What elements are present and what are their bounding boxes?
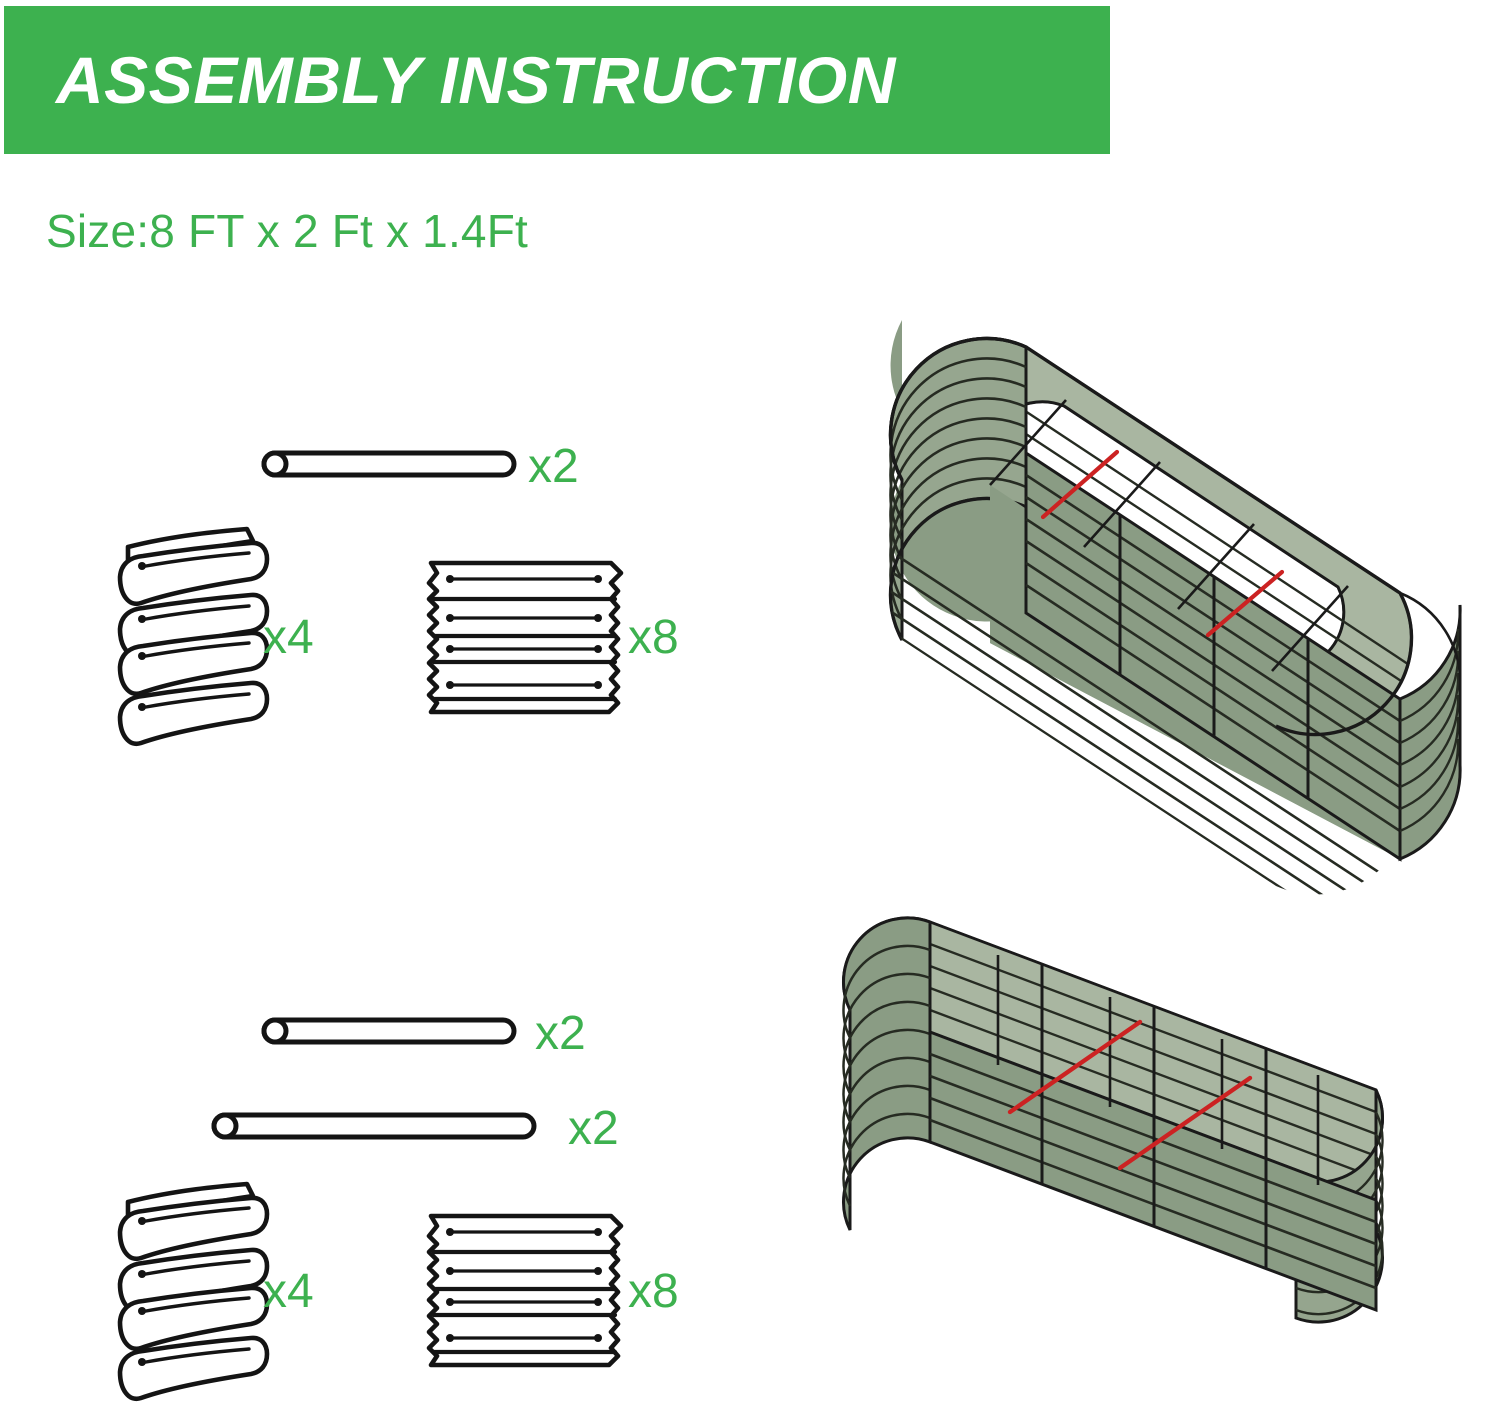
rod-icon	[255, 1012, 515, 1052]
assembly-instruction-page: ASSEMBLY INSTRUCTION Size:8 FT x 2 Ft x …	[0, 0, 1500, 1389]
quantity-label-rod-short-b: x2	[535, 1010, 586, 1058]
part-curved-corner-panel-b	[115, 1180, 350, 1405]
bed-left-end-cap	[844, 918, 930, 1230]
raised-bed-tall-illustration	[820, 900, 1500, 1370]
model-raised-bed-tall-rounded-rect	[820, 900, 1500, 1370]
rod-icon	[255, 445, 515, 485]
quantity-label-rod-a: x2	[528, 443, 579, 491]
parts-group-configuration-a: x2	[0, 330, 760, 800]
part-support-rod-short	[255, 445, 515, 485]
part-curved-corner-panel	[115, 525, 350, 750]
header-banner: ASSEMBLY INSTRUCTION	[4, 6, 1110, 154]
part-support-rod-long	[205, 1107, 535, 1147]
rod-icon	[205, 1107, 535, 1147]
straight-panel-icon	[425, 1210, 630, 1375]
quantity-label-straight-b: x8	[628, 1268, 679, 1316]
straight-panel-icon	[425, 557, 630, 722]
raised-bed-oval-illustration	[840, 325, 1500, 855]
page-title: ASSEMBLY INSTRUCTION	[4, 47, 896, 113]
size-spec-label: Size:8 FT x 2 Ft x 1.4Ft	[46, 204, 528, 258]
curved-panel-icon	[115, 525, 350, 750]
curved-panel-icon	[115, 1180, 350, 1405]
quantity-label-rod-long-b: x2	[568, 1105, 619, 1153]
part-straight-wall-panel	[425, 557, 630, 722]
model-raised-bed-low-oval	[840, 325, 1500, 855]
parts-group-configuration-b: x2 x2	[0, 990, 760, 1389]
quantity-label-curved-a: x4	[263, 614, 314, 662]
part-support-rod-short-b	[255, 1012, 515, 1052]
part-straight-wall-panel-b	[425, 1210, 630, 1375]
quantity-label-straight-a: x8	[628, 614, 679, 662]
quantity-label-curved-b: x4	[263, 1268, 314, 1316]
